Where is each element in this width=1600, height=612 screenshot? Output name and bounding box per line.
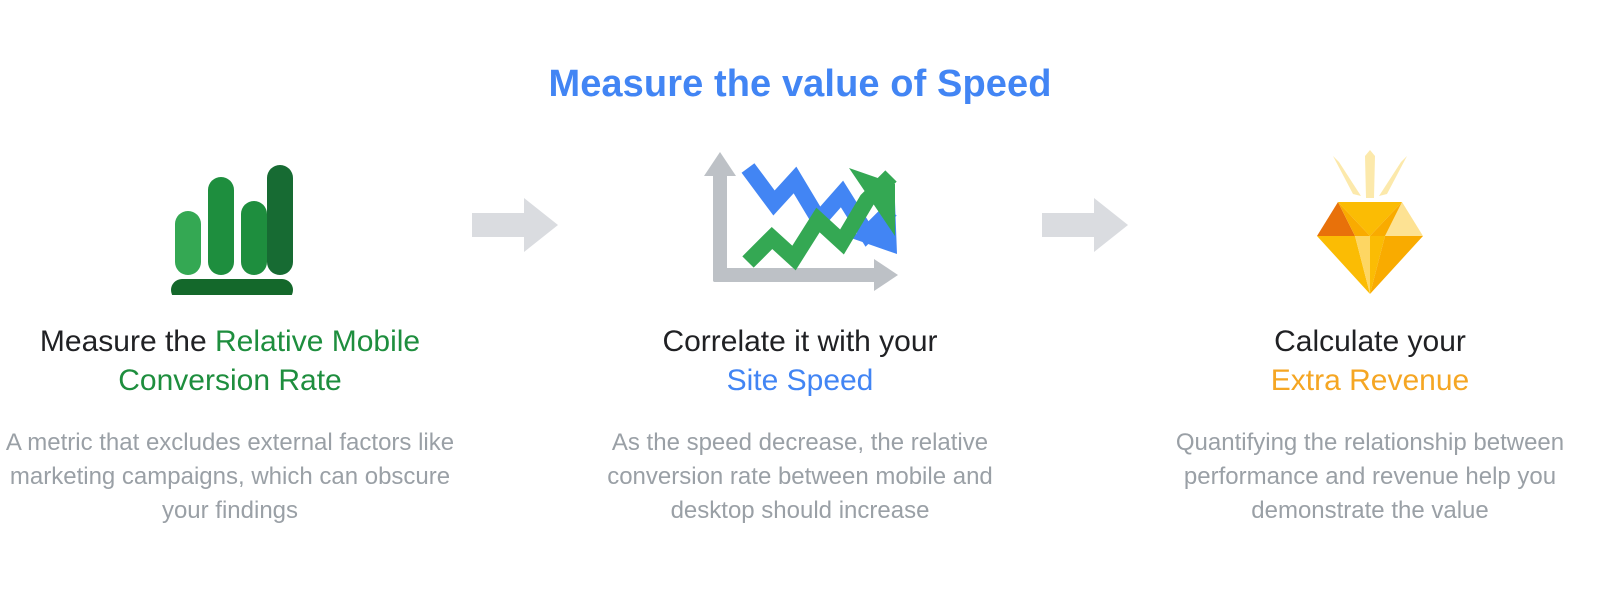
step-correlate-site-speed: Correlate it with your Site Speed As the…	[570, 150, 1030, 528]
steps-row: Measure the Relative Mobile Conversion R…	[0, 150, 1600, 528]
step-3-heading-plain: Calculate your	[1274, 325, 1466, 358]
diamond-gem-icon	[1295, 150, 1445, 300]
connector-1	[460, 150, 570, 300]
bar-chart-icon	[155, 155, 305, 295]
step-1-description: A metric that excludes external factors …	[5, 426, 455, 528]
step-1-heading-plain: Measure the	[40, 325, 215, 358]
step-2-heading-plain: Correlate it with your	[662, 325, 937, 358]
step-2-heading: Correlate it with your Site Speed	[662, 322, 937, 400]
trend-lines-chart-icon	[695, 150, 905, 300]
connector-2	[1030, 150, 1140, 300]
step-3-icon-slot	[1295, 150, 1445, 300]
arrow-right-icon	[472, 198, 558, 252]
step-1-heading: Measure the Relative Mobile Conversion R…	[15, 322, 445, 400]
step-measure-relative-mobile-conversion-rate: Measure the Relative Mobile Conversion R…	[0, 150, 460, 528]
infographic-root: Measure the value of Speed Measure the R…	[0, 0, 1600, 612]
green-rising-trend-line	[748, 168, 895, 262]
arrow-right-icon	[1042, 198, 1128, 252]
step-2-icon-slot	[695, 150, 905, 300]
step-3-heading-accent: Extra Revenue	[1271, 364, 1469, 397]
step-1-icon-slot	[155, 150, 305, 300]
step-2-heading-accent: Site Speed	[727, 364, 874, 397]
sparkle-rays	[1333, 150, 1407, 198]
step-3-description: Quantifying the relationship between per…	[1145, 426, 1595, 528]
step-2-description: As the speed decrease, the relative conv…	[575, 426, 1025, 528]
step-3-heading: Calculate your Extra Revenue	[1271, 322, 1469, 400]
page-title: Measure the value of Speed	[0, 62, 1600, 108]
step-calculate-extra-revenue: Calculate your Extra Revenue Quantifying…	[1140, 150, 1600, 528]
